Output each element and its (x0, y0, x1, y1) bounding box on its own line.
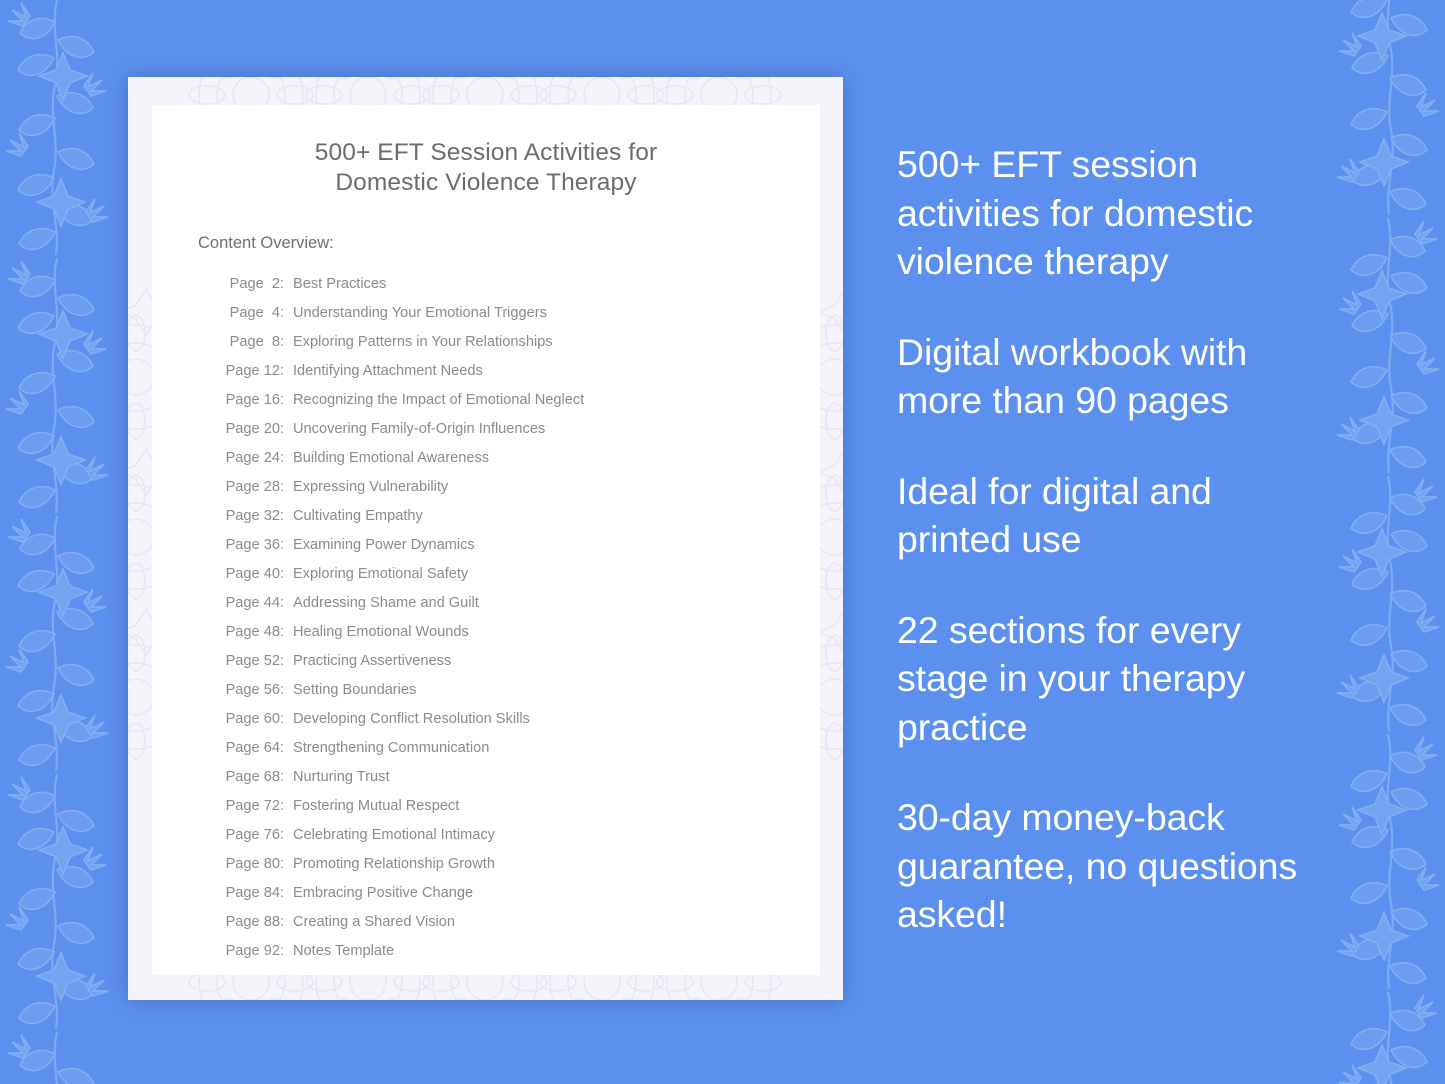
toc-entry-title: Best Practices (293, 276, 386, 292)
toc-entry-title: Identifying Attachment Needs (293, 363, 483, 379)
toc-entry-page: Page 48: (222, 618, 284, 647)
toc-entry-spacer (284, 937, 293, 966)
toc-entry-spacer (284, 908, 293, 937)
toc-entry-page: Page 88: (222, 908, 284, 937)
toc-entry: Page 84: Embracing Positive Change (222, 879, 820, 908)
toc-entry-page: Page 20: (222, 415, 284, 444)
toc-entry: Page 2: Best Practices (222, 270, 820, 299)
toc-entry-page: Page 60: (222, 705, 284, 734)
marketing-bullet: Digital workbook with more than 90 pages (897, 328, 1327, 425)
toc-entry-title: Strengthening Communication (293, 740, 489, 756)
toc-entry-spacer (284, 270, 293, 299)
floral-vine-ornament-left (0, 0, 115, 1084)
toc-entry: Page 68: Nurturing Trust (222, 763, 820, 792)
toc-entry: Page 16: Recognizing the Impact of Emoti… (222, 386, 820, 415)
toc-entry-spacer (284, 473, 293, 502)
toc-entry: Page 40: Exploring Emotional Safety (222, 560, 820, 589)
toc-entry-page: Page 56: (222, 676, 284, 705)
toc-entry: Page 56: Setting Boundaries (222, 676, 820, 705)
toc-entry-title: Understanding Your Emotional Triggers (293, 305, 547, 321)
toc-entry-page: Page 2: (222, 270, 284, 299)
toc-entry-title: Exploring Patterns in Your Relationships (293, 334, 553, 350)
marketing-bullet: 30-day money-back guarantee, no question… (897, 793, 1327, 939)
toc-entry-spacer (284, 444, 293, 473)
toc-entry-page: Page 40: (222, 560, 284, 589)
toc-entry: Page 12: Identifying Attachment Needs (222, 357, 820, 386)
toc-entry-spacer (284, 850, 293, 879)
toc-entry: Page 88: Creating a Shared Vision (222, 908, 820, 937)
toc-entry-title: Nurturing Trust (293, 769, 390, 785)
toc-entry-title: Promoting Relationship Growth (293, 856, 495, 872)
toc-entry: Page 28: Expressing Vulnerability (222, 473, 820, 502)
toc-entry-title: Building Emotional Awareness (293, 450, 489, 466)
toc-entry-page: Page 76: (222, 821, 284, 850)
floral-vine-ornament-right (1330, 0, 1445, 1084)
toc-entry: Page 32: Cultivating Empathy (222, 502, 820, 531)
toc-entry-title: Examining Power Dynamics (293, 537, 475, 553)
toc-entry-page: Page 28: (222, 473, 284, 502)
toc-entry-page: Page 52: (222, 647, 284, 676)
toc-entry-page: Page 36: (222, 531, 284, 560)
content-overview-label: Content Overview: (198, 234, 820, 253)
toc-entry-page: Page 68: (222, 763, 284, 792)
toc-entry-spacer (284, 734, 293, 763)
toc-entry: Page 20: Uncovering Family-of-Origin Inf… (222, 415, 820, 444)
toc-entry-title: Practicing Assertiveness (293, 653, 451, 669)
toc-entry-page: Page 32: (222, 502, 284, 531)
toc-entry-spacer (284, 299, 293, 328)
toc-entry-spacer (284, 705, 293, 734)
toc-entry-page: Page 16: (222, 386, 284, 415)
toc-entry-page: Page 92: (222, 937, 284, 966)
toc-entry: Page 36: Examining Power Dynamics (222, 531, 820, 560)
toc-entry-title: Notes Template (293, 943, 394, 959)
toc-entry: Page 60: Developing Conflict Resolution … (222, 705, 820, 734)
toc-entry: Page 92: Notes Template (222, 937, 820, 966)
toc-entry-spacer (284, 879, 293, 908)
toc-entry: Page 8: Exploring Patterns in Your Relat… (222, 328, 820, 357)
toc-entry: Page 24: Building Emotional Awareness (222, 444, 820, 473)
page-title-line-2: Domestic Violence Therapy (335, 169, 636, 196)
toc-entry-spacer (284, 647, 293, 676)
toc-entry-page: Page 64: (222, 734, 284, 763)
toc-entry-title: Expressing Vulnerability (293, 479, 448, 495)
toc-entry: Page 64: Strengthening Communication (222, 734, 820, 763)
marketing-bullet: 22 sections for every stage in your ther… (897, 606, 1327, 752)
toc-entry-page: Page 80: (222, 850, 284, 879)
marketing-bullet: 500+ EFT session activities for domestic… (897, 140, 1327, 286)
toc-entry-title: Developing Conflict Resolution Skills (293, 711, 530, 727)
toc-entry-title: Recognizing the Impact of Emotional Negl… (293, 392, 584, 408)
toc-entry-title: Setting Boundaries (293, 682, 416, 698)
toc-entry: Page 4: Understanding Your Emotional Tri… (222, 299, 820, 328)
toc-entry-page: Page 12: (222, 357, 284, 386)
toc-entry: Page 76: Celebrating Emotional Intimacy (222, 821, 820, 850)
toc-entry-page: Page 84: (222, 879, 284, 908)
toc-entry-spacer (284, 560, 293, 589)
toc-entry-title: Embracing Positive Change (293, 885, 473, 901)
toc-entry-spacer (284, 589, 293, 618)
toc-entry: Page 72: Fostering Mutual Respect (222, 792, 820, 821)
document-page: 500+ EFT Session Activities for Domestic… (152, 105, 820, 975)
toc-entry: Page 44: Addressing Shame and Guilt (222, 589, 820, 618)
toc-entry-spacer (284, 502, 293, 531)
workbook-preview-card: 500+ EFT Session Activities for Domestic… (128, 77, 843, 1000)
toc-entry-page: Page 44: (222, 589, 284, 618)
toc-entry-title: Creating a Shared Vision (293, 914, 455, 930)
toc-entry-spacer (284, 386, 293, 415)
toc-entry-title: Fostering Mutual Respect (293, 798, 459, 814)
toc-entry: Page 52: Practicing Assertiveness (222, 647, 820, 676)
marketing-copy-column: 500+ EFT session activities for domestic… (897, 140, 1327, 939)
toc-entry-spacer (284, 357, 293, 386)
toc-entry-title: Addressing Shame and Guilt (293, 595, 479, 611)
toc-entry-spacer (284, 792, 293, 821)
page-title-line-1: 500+ EFT Session Activities for (315, 139, 657, 166)
toc-entry: Page 80: Promoting Relationship Growth (222, 850, 820, 879)
toc-entry-spacer (284, 415, 293, 444)
toc-entry-title: Cultivating Empathy (293, 508, 423, 524)
toc-entry-page: Page 72: (222, 792, 284, 821)
toc-entry-spacer (284, 676, 293, 705)
toc-entry-spacer (284, 328, 293, 357)
toc-entry-spacer (284, 618, 293, 647)
toc-entry-page: Page 8: (222, 328, 284, 357)
table-of-contents: Page 2: Best PracticesPage 4: Understand… (222, 270, 820, 966)
toc-entry-title: Healing Emotional Wounds (293, 624, 469, 640)
marketing-bullet: Ideal for digital and printed use (897, 467, 1327, 564)
toc-entry-spacer (284, 821, 293, 850)
toc-entry-title: Exploring Emotional Safety (293, 566, 468, 582)
toc-entry-spacer (284, 531, 293, 560)
toc-entry-spacer (284, 763, 293, 792)
page-title: 500+ EFT Session Activities for Domestic… (152, 138, 820, 198)
toc-entry-title: Uncovering Family-of-Origin Influences (293, 421, 545, 437)
toc-entry-page: Page 24: (222, 444, 284, 473)
toc-entry-title: Celebrating Emotional Intimacy (293, 827, 495, 843)
toc-entry: Page 48: Healing Emotional Wounds (222, 618, 820, 647)
toc-entry-page: Page 4: (222, 299, 284, 328)
